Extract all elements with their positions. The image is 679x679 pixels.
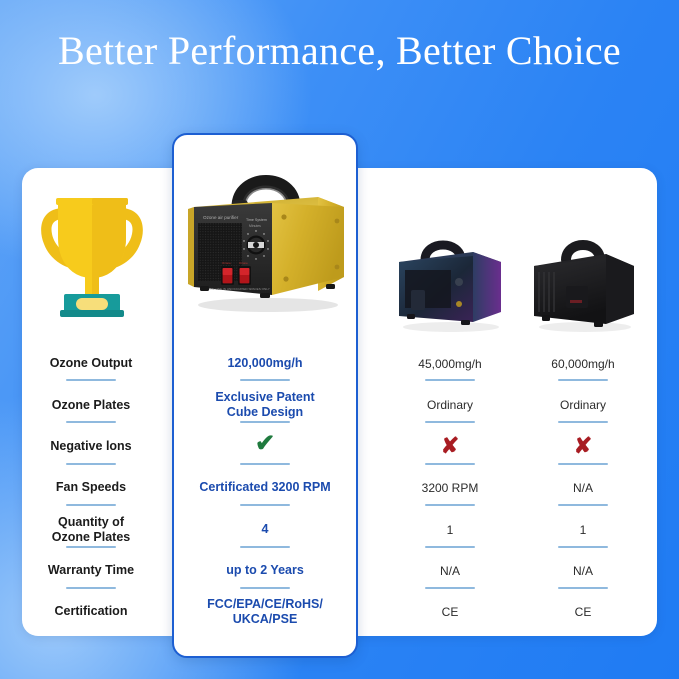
svg-text:Minutes: Minutes: [249, 224, 261, 228]
svg-text:Ozone air purifier: Ozone air purifier: [203, 215, 239, 220]
gold-ozone-generator-photo: Ozone air purifier Time System Minutes O…: [176, 145, 356, 331]
rival1-value-ozone-output: 45,000mg/h: [395, 357, 505, 372]
row-label-certification: Certification: [31, 604, 151, 619]
feature-value-fan-speeds: Certificated 3200 RPM: [178, 480, 352, 495]
rival1-value-plate-quantity: 1: [395, 523, 505, 538]
svg-text:Time System: Time System: [246, 218, 267, 222]
row-label-warranty-time: Warranty Time: [31, 563, 151, 578]
rival1-value-warranty-time: N/A: [395, 564, 505, 579]
rival2-value-ozone-output: 60,000mg/h: [528, 357, 638, 372]
feature-value-plate-quantity: 4: [190, 522, 340, 537]
feature-value-ozone-plates: Exclusive Patent Cube Design: [190, 390, 340, 420]
feature-value-certification: FCC/EPA/CE/RoHS/ UKCA/PSE: [182, 597, 348, 627]
row-label-quantity-of-ozone-plates: Quantity of Ozone Plates: [31, 515, 151, 545]
rival2-value-warranty-time: N/A: [528, 564, 638, 579]
rival2-value-certification: CE: [528, 605, 638, 620]
blue-ozone-generator-photo: [385, 228, 517, 336]
svg-text:Ozone: Ozone: [222, 261, 231, 265]
svg-text:Ozone: Ozone: [239, 261, 248, 265]
page-title: Better Performance, Better Choice: [0, 26, 679, 76]
title-container: Better Performance, Better Choice: [0, 26, 679, 76]
row-label-ozone-output: Ozone Output: [31, 356, 151, 371]
rival2-value-plate-quantity: 1: [528, 523, 638, 538]
rival2-value-fan-speeds: N/A: [528, 481, 638, 496]
black-ozone-generator-photo: [522, 230, 648, 336]
feature-value-warranty-time: up to 2 Years: [190, 563, 340, 578]
comparison-poster: Better Performance, Better Choice: [0, 0, 679, 679]
rival1-value-fan-speeds: 3200 RPM: [395, 481, 505, 496]
rival1-value-certification: CE: [395, 605, 505, 620]
trophy-icon: [34, 186, 150, 318]
row-label-negative-ions: Negative lons: [31, 439, 151, 454]
svg-text:CAUTION: USE IN UNOCCUPIED SPA: CAUTION: USE IN UNOCCUPIED SPACES ONLY: [200, 287, 270, 291]
rival1-value-ozone-plates: Ordinary: [395, 398, 505, 413]
rival2-value-ozone-plates: Ordinary: [528, 398, 638, 413]
row-label-fan-speeds: Fan Speeds: [31, 480, 151, 495]
feature-check-icon: ✔: [190, 434, 340, 454]
rival1-cross-icon: ✘: [395, 436, 505, 456]
row-label-ozone-plates: Ozone Plates: [31, 398, 151, 413]
feature-value-ozone-output: 120,000mg/h: [190, 356, 340, 371]
rival2-cross-icon: ✘: [528, 436, 638, 456]
